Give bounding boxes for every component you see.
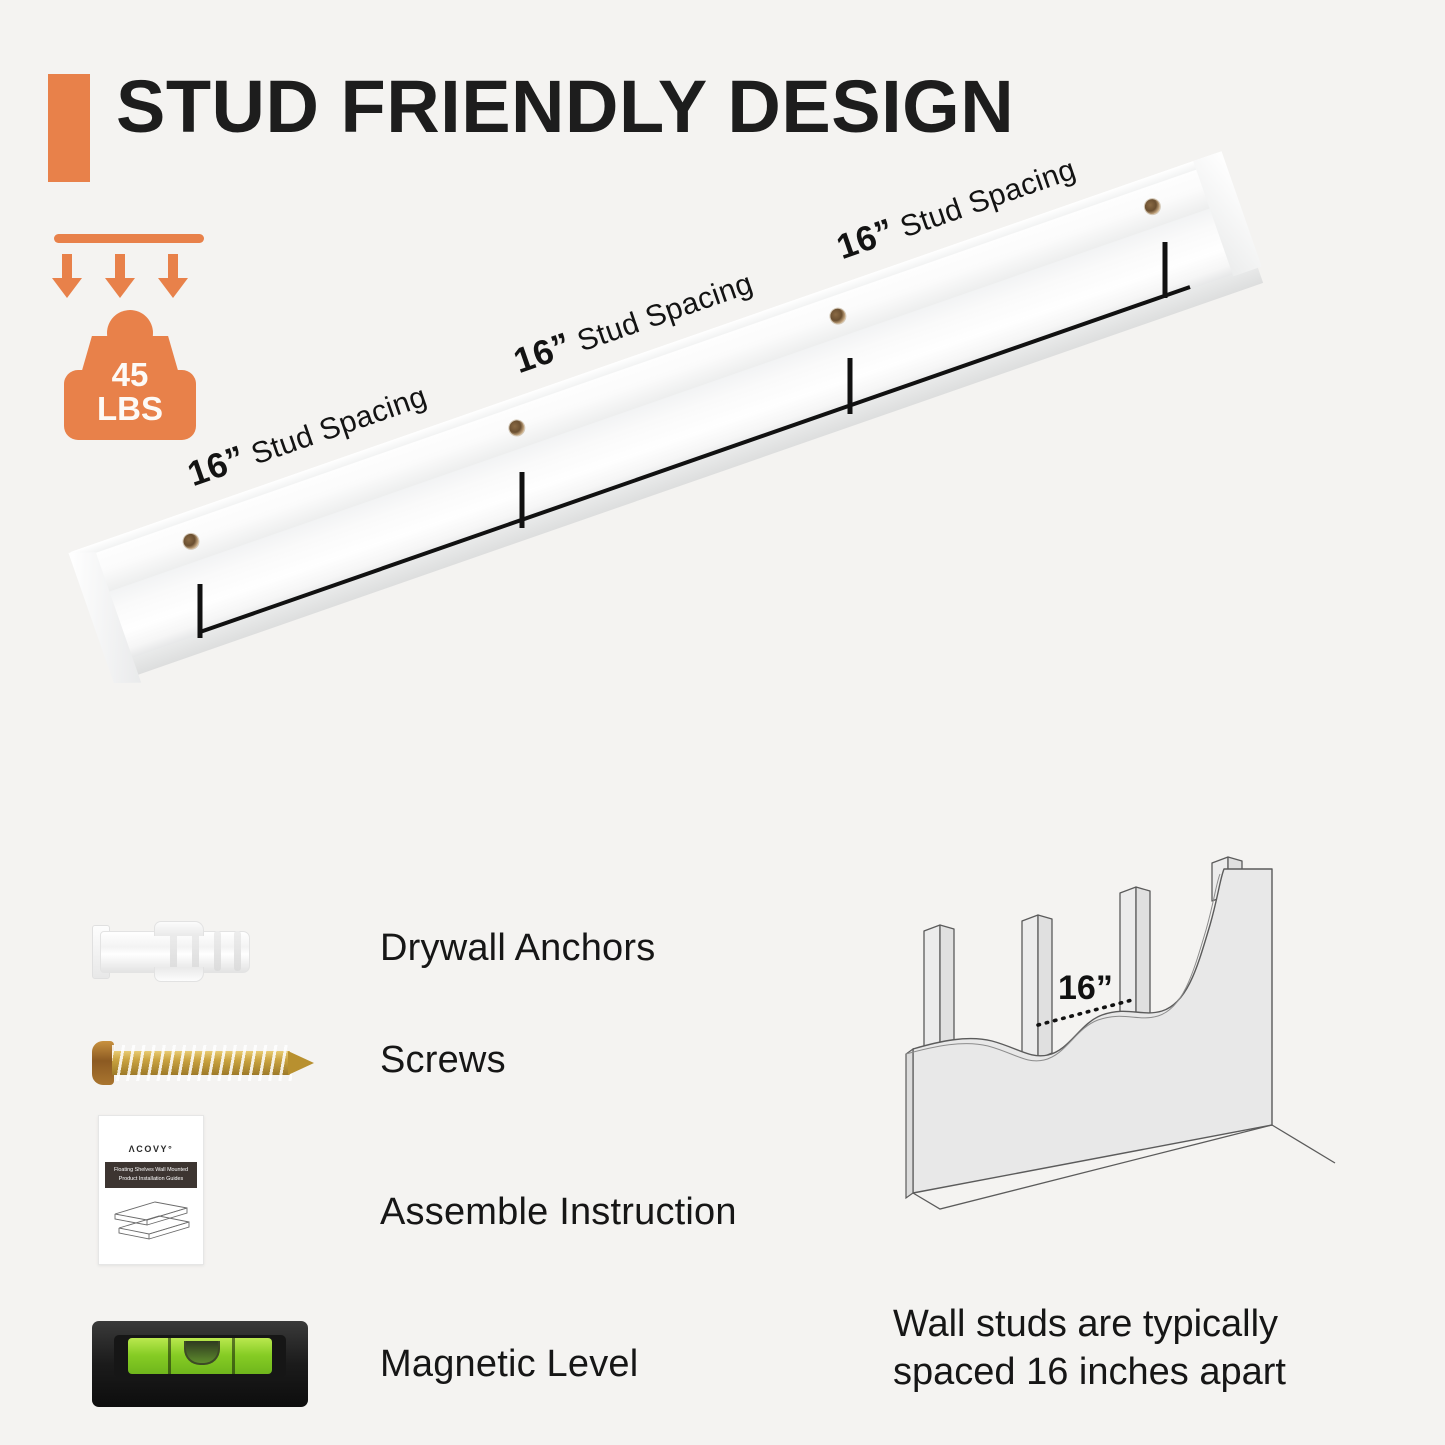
wall-diagram-caption: Wall studs are typically spaced 16 inche… [893, 1300, 1373, 1396]
list-item: Screws [92, 1017, 812, 1129]
screw-icon [92, 1017, 322, 1117]
floor-line [1272, 1125, 1335, 1163]
shelf-back-panel [70, 153, 1235, 602]
drywall-edge [906, 1049, 913, 1198]
accessory-label: Assemble Instruction [380, 1191, 737, 1234]
weight-unit: LBS [62, 392, 198, 426]
infographic-page: STUD FRIENDLY DESIGN 45 LBS [0, 0, 1445, 1445]
page-title: STUD FRIENDLY DESIGN [116, 70, 1014, 144]
drywall-anchor-icon [92, 905, 322, 1005]
list-item: ΛCOVY° Floating Shelves Wall Mounted Pro… [92, 1129, 812, 1315]
wall-stud [1120, 887, 1150, 1029]
accessory-label: Magnetic Level [380, 1343, 638, 1386]
drywall-sheet [913, 869, 1272, 1193]
product-hero: 16” Stud Spacing 16” Stud Spacing 16” St… [0, 180, 1445, 840]
booklet-brand: ΛCOVY° [99, 1144, 203, 1154]
list-item: Drywall Anchors [92, 905, 812, 1017]
booklet-subtitle: Floating Shelves Wall Mounted Product In… [105, 1162, 197, 1188]
booklet-shelf-drawing [111, 1198, 191, 1246]
accessory-list: Drywall Anchors Screws ΛCOVY° Floating S… [92, 905, 812, 1425]
instruction-booklet-icon: ΛCOVY° Floating Shelves Wall Mounted Pro… [92, 1129, 322, 1229]
wall-cutaway-drawing [880, 845, 1350, 1260]
accessory-label: Drywall Anchors [380, 927, 655, 970]
header-accent-bar [48, 74, 90, 182]
shelf-bottom-edge [110, 266, 1263, 683]
bubble-level-icon [92, 1315, 322, 1415]
wall-stud-diagram: 16” [880, 845, 1350, 1260]
list-item: Magnetic Level [92, 1315, 812, 1425]
weight-value: 45 [62, 358, 198, 392]
wall-diagram-dimension-label: 16” [1058, 969, 1113, 1008]
shelf-deck-surface [87, 200, 1250, 643]
wall-stud [1022, 915, 1052, 1065]
accessory-label: Screws [380, 1039, 506, 1082]
floating-shelf-product [70, 153, 1267, 694]
